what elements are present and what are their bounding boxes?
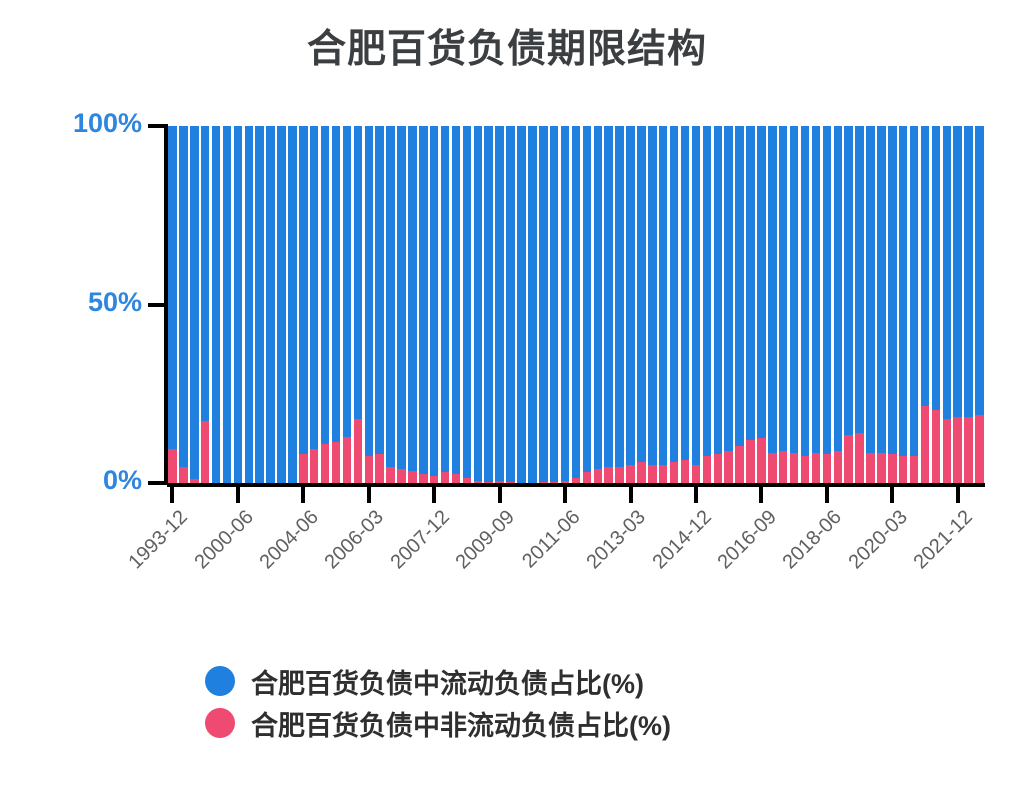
x-tick-label: 2014-12 <box>648 506 716 574</box>
bar[interactable] <box>452 126 461 483</box>
bar[interactable] <box>637 126 646 483</box>
bar-segment-noncurrent-liabilities <box>332 442 341 483</box>
bar-segment-current-liabilities <box>583 126 592 472</box>
bar-segment-current-liabilities <box>801 126 810 456</box>
x-tick-mark <box>694 487 698 503</box>
bar-segment-noncurrent-liabilities <box>703 456 712 483</box>
bar[interactable] <box>310 126 319 483</box>
x-tick-mark <box>629 487 633 503</box>
bar-segment-noncurrent-liabilities <box>910 456 919 483</box>
bar-segment-current-liabilities <box>255 126 264 483</box>
bar-segment-current-liabilities <box>212 126 221 483</box>
bar[interactable] <box>921 126 930 483</box>
bar-segment-current-liabilities <box>779 126 788 451</box>
bar-segment-current-liabilities <box>692 126 701 465</box>
bar-segment-current-liabilities <box>877 126 886 453</box>
bar[interactable] <box>790 126 799 483</box>
bar-segment-noncurrent-liabilities <box>681 460 690 483</box>
bar[interactable] <box>964 126 973 483</box>
bar-segment-noncurrent-liabilities <box>768 453 777 483</box>
bar-segment-noncurrent-liabilities <box>899 456 908 483</box>
bar[interactable] <box>910 126 919 483</box>
bar-segment-noncurrent-liabilities <box>201 421 210 483</box>
bar[interactable] <box>506 126 515 483</box>
bar-segment-noncurrent-liabilities <box>561 481 570 483</box>
bar-segment-noncurrent-liabilities <box>724 451 733 483</box>
bar-segment-current-liabilities <box>321 126 330 444</box>
bar[interactable] <box>953 126 962 483</box>
y-tick-mark <box>148 124 164 128</box>
bar-segment-current-liabilities <box>245 126 254 483</box>
bar[interactable] <box>779 126 788 483</box>
chart-container: 合肥百货负债期限结构 0%50%100% 1993-122000-062004-… <box>0 0 1014 810</box>
bar[interactable] <box>386 126 395 483</box>
bar[interactable] <box>223 126 232 483</box>
bar-segment-noncurrent-liabilities <box>615 467 624 483</box>
bar-segment-current-liabilities <box>703 126 712 456</box>
bar[interactable] <box>735 126 744 483</box>
y-tick-mark <box>148 303 164 307</box>
x-tick-mark <box>563 487 567 503</box>
legend-swatch-circle-icon <box>205 666 235 696</box>
legend-item-current-liabilities[interactable]: 合肥百货负债中流动负债占比(%) <box>205 662 671 700</box>
x-tick-mark <box>236 487 240 503</box>
bar-segment-current-liabilities <box>375 126 384 454</box>
bar-segment-current-liabilities <box>921 126 930 406</box>
bar-segment-current-liabilities <box>648 126 657 465</box>
x-tick-mark <box>498 487 502 503</box>
chart-legend: 合肥百货负债中流动负债占比(%) 合肥百货负债中非流动负债占比(%) <box>205 662 671 742</box>
bar-segment-current-liabilities <box>474 126 483 481</box>
bar[interactable] <box>714 126 723 483</box>
bar-segment-noncurrent-liabilities <box>168 449 177 483</box>
bar[interactable] <box>615 126 624 483</box>
bar-segment-noncurrent-liabilities <box>975 415 984 483</box>
bar-segment-current-liabilities <box>277 126 286 483</box>
bar-segment-noncurrent-liabilities <box>321 444 330 483</box>
bar[interactable] <box>266 126 275 483</box>
bar[interactable] <box>332 126 341 483</box>
bar-segment-noncurrent-liabilities <box>550 482 559 483</box>
bar-segment-current-liabilities <box>484 126 493 482</box>
x-axis-line <box>167 483 985 487</box>
legend-label: 合肥百货负债中非流动负债占比(%) <box>251 704 671 743</box>
plot-area <box>167 126 985 483</box>
bar-segment-noncurrent-liabilities <box>746 440 755 483</box>
bar[interactable] <box>495 126 504 483</box>
x-tick-label: 2007-12 <box>386 506 454 574</box>
bar[interactable] <box>484 126 493 483</box>
bar-segment-current-liabilities <box>757 126 766 438</box>
bar-segment-noncurrent-liabilities <box>953 417 962 483</box>
bar-segment-current-liabilities <box>408 126 417 471</box>
bar-segment-noncurrent-liabilities <box>430 476 439 483</box>
bar[interactable] <box>255 126 264 483</box>
bar[interactable] <box>594 126 603 483</box>
bar-segment-noncurrent-liabilities <box>539 482 548 483</box>
bar[interactable] <box>604 126 613 483</box>
x-tick-label: 2020-03 <box>844 506 912 574</box>
bar-segment-current-liabilities <box>332 126 341 442</box>
x-tick-mark <box>367 487 371 503</box>
bar[interactable] <box>234 126 243 483</box>
bar-segment-noncurrent-liabilities <box>594 469 603 483</box>
bar[interactable] <box>844 126 853 483</box>
bar-segment-noncurrent-liabilities <box>604 467 613 483</box>
bar-segment-current-liabilities <box>888 126 897 454</box>
bar[interactable] <box>517 126 526 483</box>
bar-segment-noncurrent-liabilities <box>648 465 657 483</box>
bar-segment-noncurrent-liabilities <box>877 453 886 483</box>
y-tick-mark <box>148 481 164 485</box>
bar-segment-current-liabilities <box>681 126 690 460</box>
bar[interactable] <box>703 126 712 483</box>
bar-segment-current-liabilities <box>179 126 188 467</box>
bar[interactable] <box>626 126 635 483</box>
bar-segment-current-liabilities <box>495 126 504 481</box>
bar-segment-current-liabilities <box>343 126 352 437</box>
bar-segment-current-liabilities <box>670 126 679 462</box>
bar[interactable] <box>746 126 755 483</box>
bar[interactable] <box>375 126 384 483</box>
bar-segment-noncurrent-liabilities <box>812 453 821 483</box>
bar[interactable] <box>724 126 733 483</box>
x-tick-mark <box>170 487 174 503</box>
bar-segment-current-liabilities <box>964 126 973 417</box>
y-tick-label: 100% <box>0 108 142 139</box>
bar-segment-current-liabilities <box>550 126 559 482</box>
bar[interactable] <box>801 126 810 483</box>
bar[interactable] <box>441 126 450 483</box>
bar-segment-current-liabilities <box>790 126 799 453</box>
bar[interactable] <box>365 126 374 483</box>
bar[interactable] <box>463 126 472 483</box>
bar-segment-current-liabilities <box>724 126 733 451</box>
bar-segment-noncurrent-liabilities <box>670 462 679 483</box>
bar-segment-current-liabilities <box>615 126 624 467</box>
bar-segment-current-liabilities <box>386 126 395 467</box>
bar-segment-current-liabilities <box>517 126 526 483</box>
bar[interactable] <box>343 126 352 483</box>
x-tick-label: 2011-06 <box>518 506 585 573</box>
bar-segment-noncurrent-liabilities <box>692 465 701 483</box>
bar-segment-current-liabilities <box>626 126 635 465</box>
bar-segment-noncurrent-liabilities <box>484 482 493 483</box>
bar-segment-current-liabilities <box>463 126 472 478</box>
bar[interactable] <box>659 126 668 483</box>
bar-segment-noncurrent-liabilities <box>299 454 308 483</box>
bar-segment-noncurrent-liabilities <box>179 467 188 483</box>
bar-segment-current-liabilities <box>539 126 548 482</box>
bar-segment-noncurrent-liabilities <box>474 481 483 483</box>
bar-segment-noncurrent-liabilities <box>637 462 646 483</box>
bar[interactable] <box>321 126 330 483</box>
x-tick-mark <box>432 487 436 503</box>
bar[interactable] <box>757 126 766 483</box>
bar-segment-current-liabilities <box>812 126 821 453</box>
x-tick-mark <box>301 487 305 503</box>
bar[interactable] <box>692 126 701 483</box>
bar-segment-current-liabilities <box>201 126 210 421</box>
bar-segment-current-liabilities <box>572 126 581 478</box>
bar-segment-current-liabilities <box>735 126 744 446</box>
legend-swatch-circle-icon <box>205 708 235 738</box>
bar[interactable] <box>299 126 308 483</box>
bar[interactable] <box>277 126 286 483</box>
x-tick-label: 2021-12 <box>910 506 978 574</box>
bar-segment-current-liabilities <box>714 126 723 454</box>
bar-segment-noncurrent-liabilities <box>386 467 395 483</box>
bar-segment-noncurrent-liabilities <box>495 481 504 483</box>
bar[interactable] <box>823 126 832 483</box>
bar-segment-current-liabilities <box>899 126 908 456</box>
bar[interactable] <box>834 126 843 483</box>
bar[interactable] <box>245 126 254 483</box>
bar-segment-current-liabilities <box>834 126 843 451</box>
bar[interactable] <box>670 126 679 483</box>
bar-segment-noncurrent-liabilities <box>310 449 319 483</box>
bar-segment-current-liabilities <box>234 126 243 483</box>
bar-segment-current-liabilities <box>953 126 962 417</box>
bar-segment-current-liabilities <box>299 126 308 454</box>
bar[interactable] <box>168 126 177 483</box>
x-tick-mark <box>759 487 763 503</box>
bar-segment-noncurrent-liabilities <box>834 451 843 483</box>
bar-segment-noncurrent-liabilities <box>452 474 461 483</box>
bar[interactable] <box>888 126 897 483</box>
x-tick-label: 2000-06 <box>190 506 258 574</box>
bar[interactable] <box>550 126 559 483</box>
bar-segment-noncurrent-liabilities <box>583 472 592 483</box>
bar-segment-current-liabilities <box>637 126 646 462</box>
bar-segment-noncurrent-liabilities <box>375 454 384 483</box>
bar-segment-noncurrent-liabilities <box>790 453 799 483</box>
bar-segment-current-liabilities <box>397 126 406 469</box>
bar-segment-noncurrent-liabilities <box>714 454 723 483</box>
bar-segment-current-liabilities <box>594 126 603 469</box>
bar-segment-noncurrent-liabilities <box>365 456 374 483</box>
bar-segment-current-liabilities <box>419 126 428 474</box>
bar-segment-noncurrent-liabilities <box>626 465 635 483</box>
bar-segment-noncurrent-liabilities <box>190 479 199 483</box>
bar-segment-current-liabilities <box>746 126 755 440</box>
bar-segment-noncurrent-liabilities <box>757 438 766 483</box>
bar[interactable] <box>419 126 428 483</box>
y-tick-label: 50% <box>0 287 142 318</box>
bar-segment-noncurrent-liabilities <box>735 446 744 483</box>
bar-segment-noncurrent-liabilities <box>964 417 973 483</box>
bar-segment-current-liabilities <box>354 126 363 419</box>
bar[interactable] <box>681 126 690 483</box>
bar[interactable] <box>528 126 537 483</box>
x-tick-label: 2006-03 <box>321 506 389 574</box>
bar-segment-current-liabilities <box>310 126 319 449</box>
bar-segment-current-liabilities <box>528 126 537 483</box>
bar[interactable] <box>943 126 952 483</box>
bar-segment-noncurrent-liabilities <box>844 435 853 483</box>
bar[interactable] <box>583 126 592 483</box>
bar-segment-current-liabilities <box>365 126 374 456</box>
y-tick-label: 0% <box>0 465 142 496</box>
bar-segment-noncurrent-liabilities <box>463 478 472 483</box>
bar[interactable] <box>212 126 221 483</box>
bar[interactable] <box>539 126 548 483</box>
x-tick-label: 2018-06 <box>779 506 847 574</box>
bar-segment-noncurrent-liabilities <box>408 471 417 483</box>
bar[interactable] <box>430 126 439 483</box>
bar[interactable] <box>201 126 210 483</box>
bar-segment-noncurrent-liabilities <box>823 454 832 483</box>
bar-segment-noncurrent-liabilities <box>397 469 406 483</box>
legend-label: 合肥百货负债中流动负债占比(%) <box>251 662 644 701</box>
bar-segment-current-liabilities <box>266 126 275 483</box>
bar-segment-current-liabilities <box>223 126 232 483</box>
bar-segment-noncurrent-liabilities <box>354 419 363 483</box>
bar-segment-current-liabilities <box>975 126 984 415</box>
bar-segment-current-liabilities <box>823 126 832 454</box>
bar[interactable] <box>932 126 941 483</box>
bar-segment-current-liabilities <box>943 126 952 419</box>
bar-segment-current-liabilities <box>768 126 777 453</box>
bar[interactable] <box>866 126 875 483</box>
bar-segment-current-liabilities <box>932 126 941 410</box>
bar-segment-noncurrent-liabilities <box>441 472 450 483</box>
bar-segment-noncurrent-liabilities <box>801 456 810 483</box>
bar[interactable] <box>408 126 417 483</box>
bar-segment-noncurrent-liabilities <box>659 465 668 483</box>
bar-segment-current-liabilities <box>168 126 177 449</box>
bar-segment-noncurrent-liabilities <box>572 478 581 483</box>
bar[interactable] <box>768 126 777 483</box>
bar[interactable] <box>354 126 363 483</box>
bar-segment-current-liabilities <box>190 126 199 479</box>
bar[interactable] <box>648 126 657 483</box>
bar[interactable] <box>474 126 483 483</box>
bar-segment-current-liabilities <box>430 126 439 476</box>
bar[interactable] <box>572 126 581 483</box>
bar[interactable] <box>190 126 199 483</box>
x-tick-mark <box>890 487 894 503</box>
bar-segment-noncurrent-liabilities <box>343 437 352 483</box>
bar-segment-noncurrent-liabilities <box>888 454 897 483</box>
bar-segment-current-liabilities <box>288 126 297 483</box>
legend-item-noncurrent-liabilities[interactable]: 合肥百货负债中非流动负债占比(%) <box>205 704 671 742</box>
bar-segment-noncurrent-liabilities <box>932 410 941 483</box>
bar[interactable] <box>288 126 297 483</box>
bar-segment-current-liabilities <box>855 126 864 433</box>
bar-segment-noncurrent-liabilities <box>866 453 875 483</box>
x-tick-label: 1993-12 <box>125 506 193 574</box>
bar-segment-current-liabilities <box>910 126 919 456</box>
x-tick-label: 2009-09 <box>452 506 520 574</box>
x-tick-mark <box>956 487 960 503</box>
bar-segment-current-liabilities <box>561 126 570 481</box>
bar[interactable] <box>561 126 570 483</box>
bar[interactable] <box>179 126 188 483</box>
bar-segment-noncurrent-liabilities <box>419 474 428 483</box>
x-tick-label: 2016-09 <box>714 506 782 574</box>
x-tick-label: 2013-03 <box>583 506 651 574</box>
bar-segment-current-liabilities <box>844 126 853 435</box>
bar-segment-current-liabilities <box>604 126 613 467</box>
bar-segment-current-liabilities <box>659 126 668 465</box>
bar-segment-current-liabilities <box>441 126 450 472</box>
bar[interactable] <box>855 126 864 483</box>
x-tick-mark <box>825 487 829 503</box>
bar[interactable] <box>877 126 886 483</box>
bar-segment-noncurrent-liabilities <box>506 482 515 483</box>
bar-segment-noncurrent-liabilities <box>855 433 864 483</box>
bar-segment-noncurrent-liabilities <box>921 406 930 483</box>
bar[interactable] <box>397 126 406 483</box>
bar-segment-noncurrent-liabilities <box>943 419 952 483</box>
bar-segment-current-liabilities <box>506 126 515 482</box>
bar[interactable] <box>812 126 821 483</box>
bar[interactable] <box>899 126 908 483</box>
bar[interactable] <box>975 126 984 483</box>
bar-segment-current-liabilities <box>452 126 461 474</box>
x-tick-label: 2004-06 <box>255 506 323 574</box>
bar-segment-noncurrent-liabilities <box>779 451 788 483</box>
chart-title: 合肥百货负债期限结构 <box>0 18 1014 74</box>
bar-segment-current-liabilities <box>866 126 875 453</box>
